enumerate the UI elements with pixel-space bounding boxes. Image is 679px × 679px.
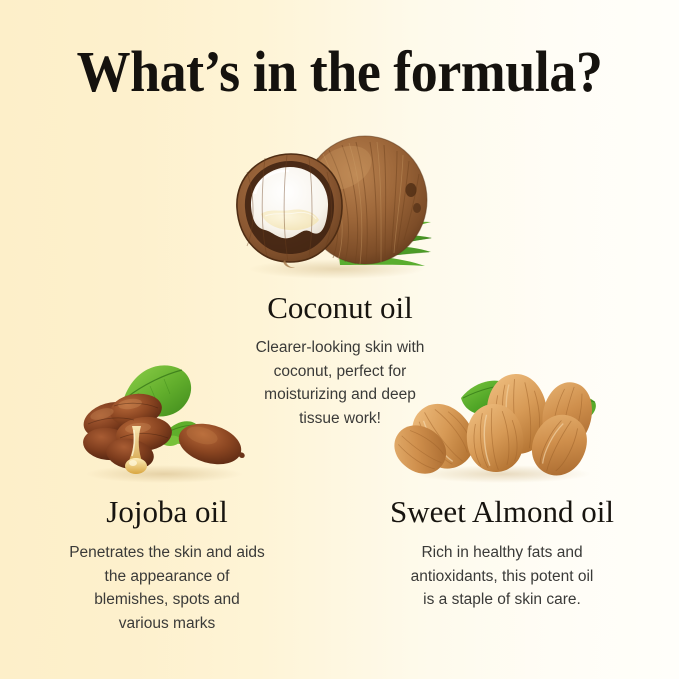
ingredient-heading-jojoba: Jojoba oil (17, 494, 317, 530)
description-line: Clearer-looking skin with (190, 336, 490, 360)
jojoba-icon (72, 362, 262, 484)
coconut-illustration (225, 128, 455, 280)
description-line: Rich in healthy fats and (352, 541, 652, 565)
ingredient-card-almond: Sweet Almond oil Rich in healthy fats an… (352, 364, 652, 612)
description-line: the appearance of (17, 565, 317, 589)
almond-illustration (395, 364, 610, 484)
description-line: antioxidants, this potent oil (352, 565, 652, 589)
page-title: What’s in the formula? (24, 40, 655, 104)
almond-icon (395, 364, 610, 484)
description-line: is a staple of skin care. (352, 588, 652, 612)
description-line: Penetrates the skin and aids (17, 541, 317, 565)
ingredient-description-almond: Rich in healthy fats and antioxidants, t… (352, 541, 652, 612)
ingredient-card-jojoba: Jojoba oil Penetrates the skin and aids … (17, 362, 317, 635)
ingredient-description-jojoba: Penetrates the skin and aids the appeara… (17, 541, 317, 635)
description-line: various marks (17, 612, 317, 636)
formula-ingredients-infographic: What’s in the formula? (0, 0, 679, 679)
ingredient-heading-almond: Sweet Almond oil (352, 494, 652, 530)
coconut-icon (225, 128, 455, 280)
ingredient-heading-coconut: Coconut oil (190, 290, 490, 326)
description-line: blemishes, spots and (17, 588, 317, 612)
jojoba-illustration (72, 362, 262, 484)
